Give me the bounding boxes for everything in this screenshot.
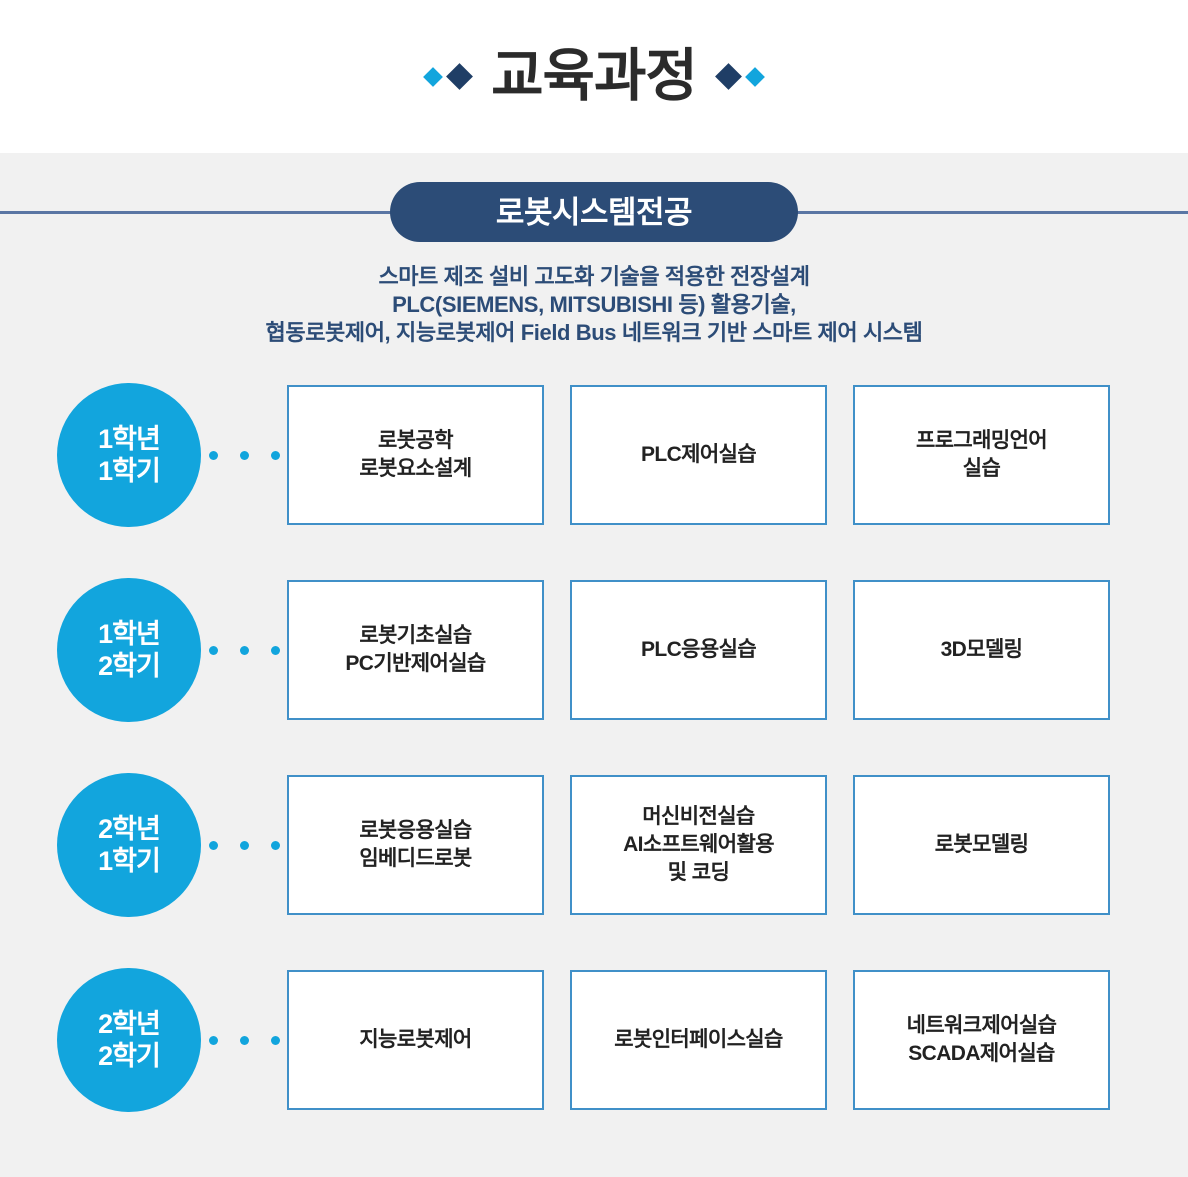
course-card: 3D모델링 xyxy=(853,580,1110,720)
curriculum-row: 2학년 2학기 지능로봇제어 로봇인터페이스실습 네트워크제 xyxy=(0,968,1188,1112)
dot-icon xyxy=(209,841,218,850)
course-card-group: 로봇공학 로봇요소설계 PLC제어실습 프로그래밍언어 실습 xyxy=(287,385,1110,525)
course-line: 로봇요소설계 xyxy=(359,455,471,483)
term-badge: 2학년 1학기 xyxy=(57,773,201,917)
course-line: 로봇기초실습 xyxy=(359,622,471,650)
course-line: AI소프트웨어활용 xyxy=(623,831,774,859)
term-badge: 2학년 2학기 xyxy=(57,968,201,1112)
course-card-group: 로봇기초실습 PC기반제어실습 PLC응용실습 3D모델링 xyxy=(287,580,1110,720)
dot-icon xyxy=(209,1036,218,1045)
term-line: 2학기 xyxy=(98,650,160,682)
decor-left-group xyxy=(426,67,469,86)
course-card: 지능로봇제어 xyxy=(287,970,544,1110)
course-line: 로봇공학 xyxy=(378,427,453,455)
course-line: PLC제어실습 xyxy=(641,441,756,469)
course-line: 실습 xyxy=(963,455,1000,483)
term-line: 2학년 xyxy=(98,813,160,845)
connector-dots xyxy=(201,451,287,460)
page-title: 교육과정 xyxy=(491,48,697,105)
course-line: 임베디드로봇 xyxy=(359,845,471,873)
title-with-decorations: 교육과정 xyxy=(426,48,762,105)
course-line: 지능로봇제어 xyxy=(359,1026,471,1054)
connector-dots xyxy=(201,1036,287,1045)
course-line: SCADA제어실습 xyxy=(908,1040,1055,1068)
course-line: 머신비전실습 xyxy=(642,803,754,831)
description-line: 스마트 제조 설비 고도화 기술을 적용한 전장설계 xyxy=(0,263,1188,291)
term-line: 2학년 xyxy=(98,1008,160,1040)
major-badge-label: 로봇시스템전공 xyxy=(496,197,692,228)
description-line: PLC(SIEMENS, MITSUBISHI 등) 활용기술, xyxy=(0,291,1188,319)
term-line: 1학년 xyxy=(98,423,160,455)
diamond-cyan-icon xyxy=(745,67,765,87)
course-card: 네트워크제어실습 SCADA제어실습 xyxy=(853,970,1110,1110)
term-line: 1학년 xyxy=(98,618,160,650)
term-badge: 1학년 1학기 xyxy=(57,383,201,527)
term-line: 1학기 xyxy=(98,455,160,487)
dot-icon xyxy=(240,451,249,460)
dot-icon xyxy=(209,646,218,655)
course-line: 네트워크제어실습 xyxy=(907,1012,1057,1040)
decor-right-group xyxy=(719,67,762,86)
diamond-cyan-icon xyxy=(423,67,443,87)
course-line: 프로그래밍언어 xyxy=(916,427,1047,455)
course-card: PLC제어실습 xyxy=(570,385,827,525)
course-card-group: 지능로봇제어 로봇인터페이스실습 네트워크제어실습 SCADA제어실습 xyxy=(287,970,1110,1110)
dot-icon xyxy=(240,841,249,850)
course-card: 로봇응용실습 임베디드로봇 xyxy=(287,775,544,915)
page-body: 로봇시스템전공 스마트 제조 설비 고도화 기술을 적용한 전장설계 PLC(S… xyxy=(0,153,1188,1177)
term-line: 2학기 xyxy=(98,1040,160,1072)
course-card: 로봇모델링 xyxy=(853,775,1110,915)
dot-icon xyxy=(271,451,280,460)
dot-icon xyxy=(271,1036,280,1045)
course-line: PLC응용실습 xyxy=(641,636,756,664)
dot-icon xyxy=(209,451,218,460)
dot-icon xyxy=(240,1036,249,1045)
curriculum-row: 2학년 1학기 로봇응용실습 임베디드로봇 머신비전실습 AI소프트웨어활용 xyxy=(0,773,1188,917)
course-card: PLC응용실습 xyxy=(570,580,827,720)
major-badge: 로봇시스템전공 xyxy=(390,182,798,242)
course-card: 로봇공학 로봇요소설계 xyxy=(287,385,544,525)
course-card: 머신비전실습 AI소프트웨어활용 및 코딩 xyxy=(570,775,827,915)
dot-icon xyxy=(271,646,280,655)
diamond-navy-icon xyxy=(715,63,742,90)
course-line: 및 코딩 xyxy=(668,859,729,887)
dot-icon xyxy=(240,646,249,655)
course-card-group: 로봇응용실습 임베디드로봇 머신비전실습 AI소프트웨어활용 및 코딩 로봇모델… xyxy=(287,775,1110,915)
course-card: 로봇기초실습 PC기반제어실습 xyxy=(287,580,544,720)
dot-icon xyxy=(271,841,280,850)
description-line: 협동로봇제어, 지능로봇제어 Field Bus 네트워크 기반 스마트 제어 … xyxy=(0,319,1188,347)
connector-dots xyxy=(201,646,287,655)
curriculum-rows: 1학년 1학기 로봇공학 로봇요소설계 PLC제어실습 xyxy=(0,383,1188,1163)
description-block: 스마트 제조 설비 고도화 기술을 적용한 전장설계 PLC(SIEMENS, … xyxy=(0,263,1188,347)
term-line: 1학기 xyxy=(98,845,160,877)
course-line: 로봇응용실습 xyxy=(359,817,471,845)
course-line: 로봇인터페이스실습 xyxy=(614,1026,782,1054)
diamond-navy-icon xyxy=(446,63,473,90)
course-line: 3D모델링 xyxy=(941,636,1023,664)
course-line: 로봇모델링 xyxy=(935,831,1029,859)
course-card: 프로그래밍언어 실습 xyxy=(853,385,1110,525)
course-line: PC기반제어실습 xyxy=(345,650,485,678)
curriculum-row: 1학년 2학기 로봇기초실습 PC기반제어실습 PLC응용실습 xyxy=(0,578,1188,722)
course-card: 로봇인터페이스실습 xyxy=(570,970,827,1110)
curriculum-row: 1학년 1학기 로봇공학 로봇요소설계 PLC제어실습 xyxy=(0,383,1188,527)
page-header: 교육과정 xyxy=(0,0,1188,153)
connector-dots xyxy=(201,841,287,850)
curriculum-infographic: 교육과정 로봇시스템전공 스마트 제조 설비 고도화 기술을 적용한 전장설계 … xyxy=(0,0,1188,1177)
term-badge: 1학년 2학기 xyxy=(57,578,201,722)
